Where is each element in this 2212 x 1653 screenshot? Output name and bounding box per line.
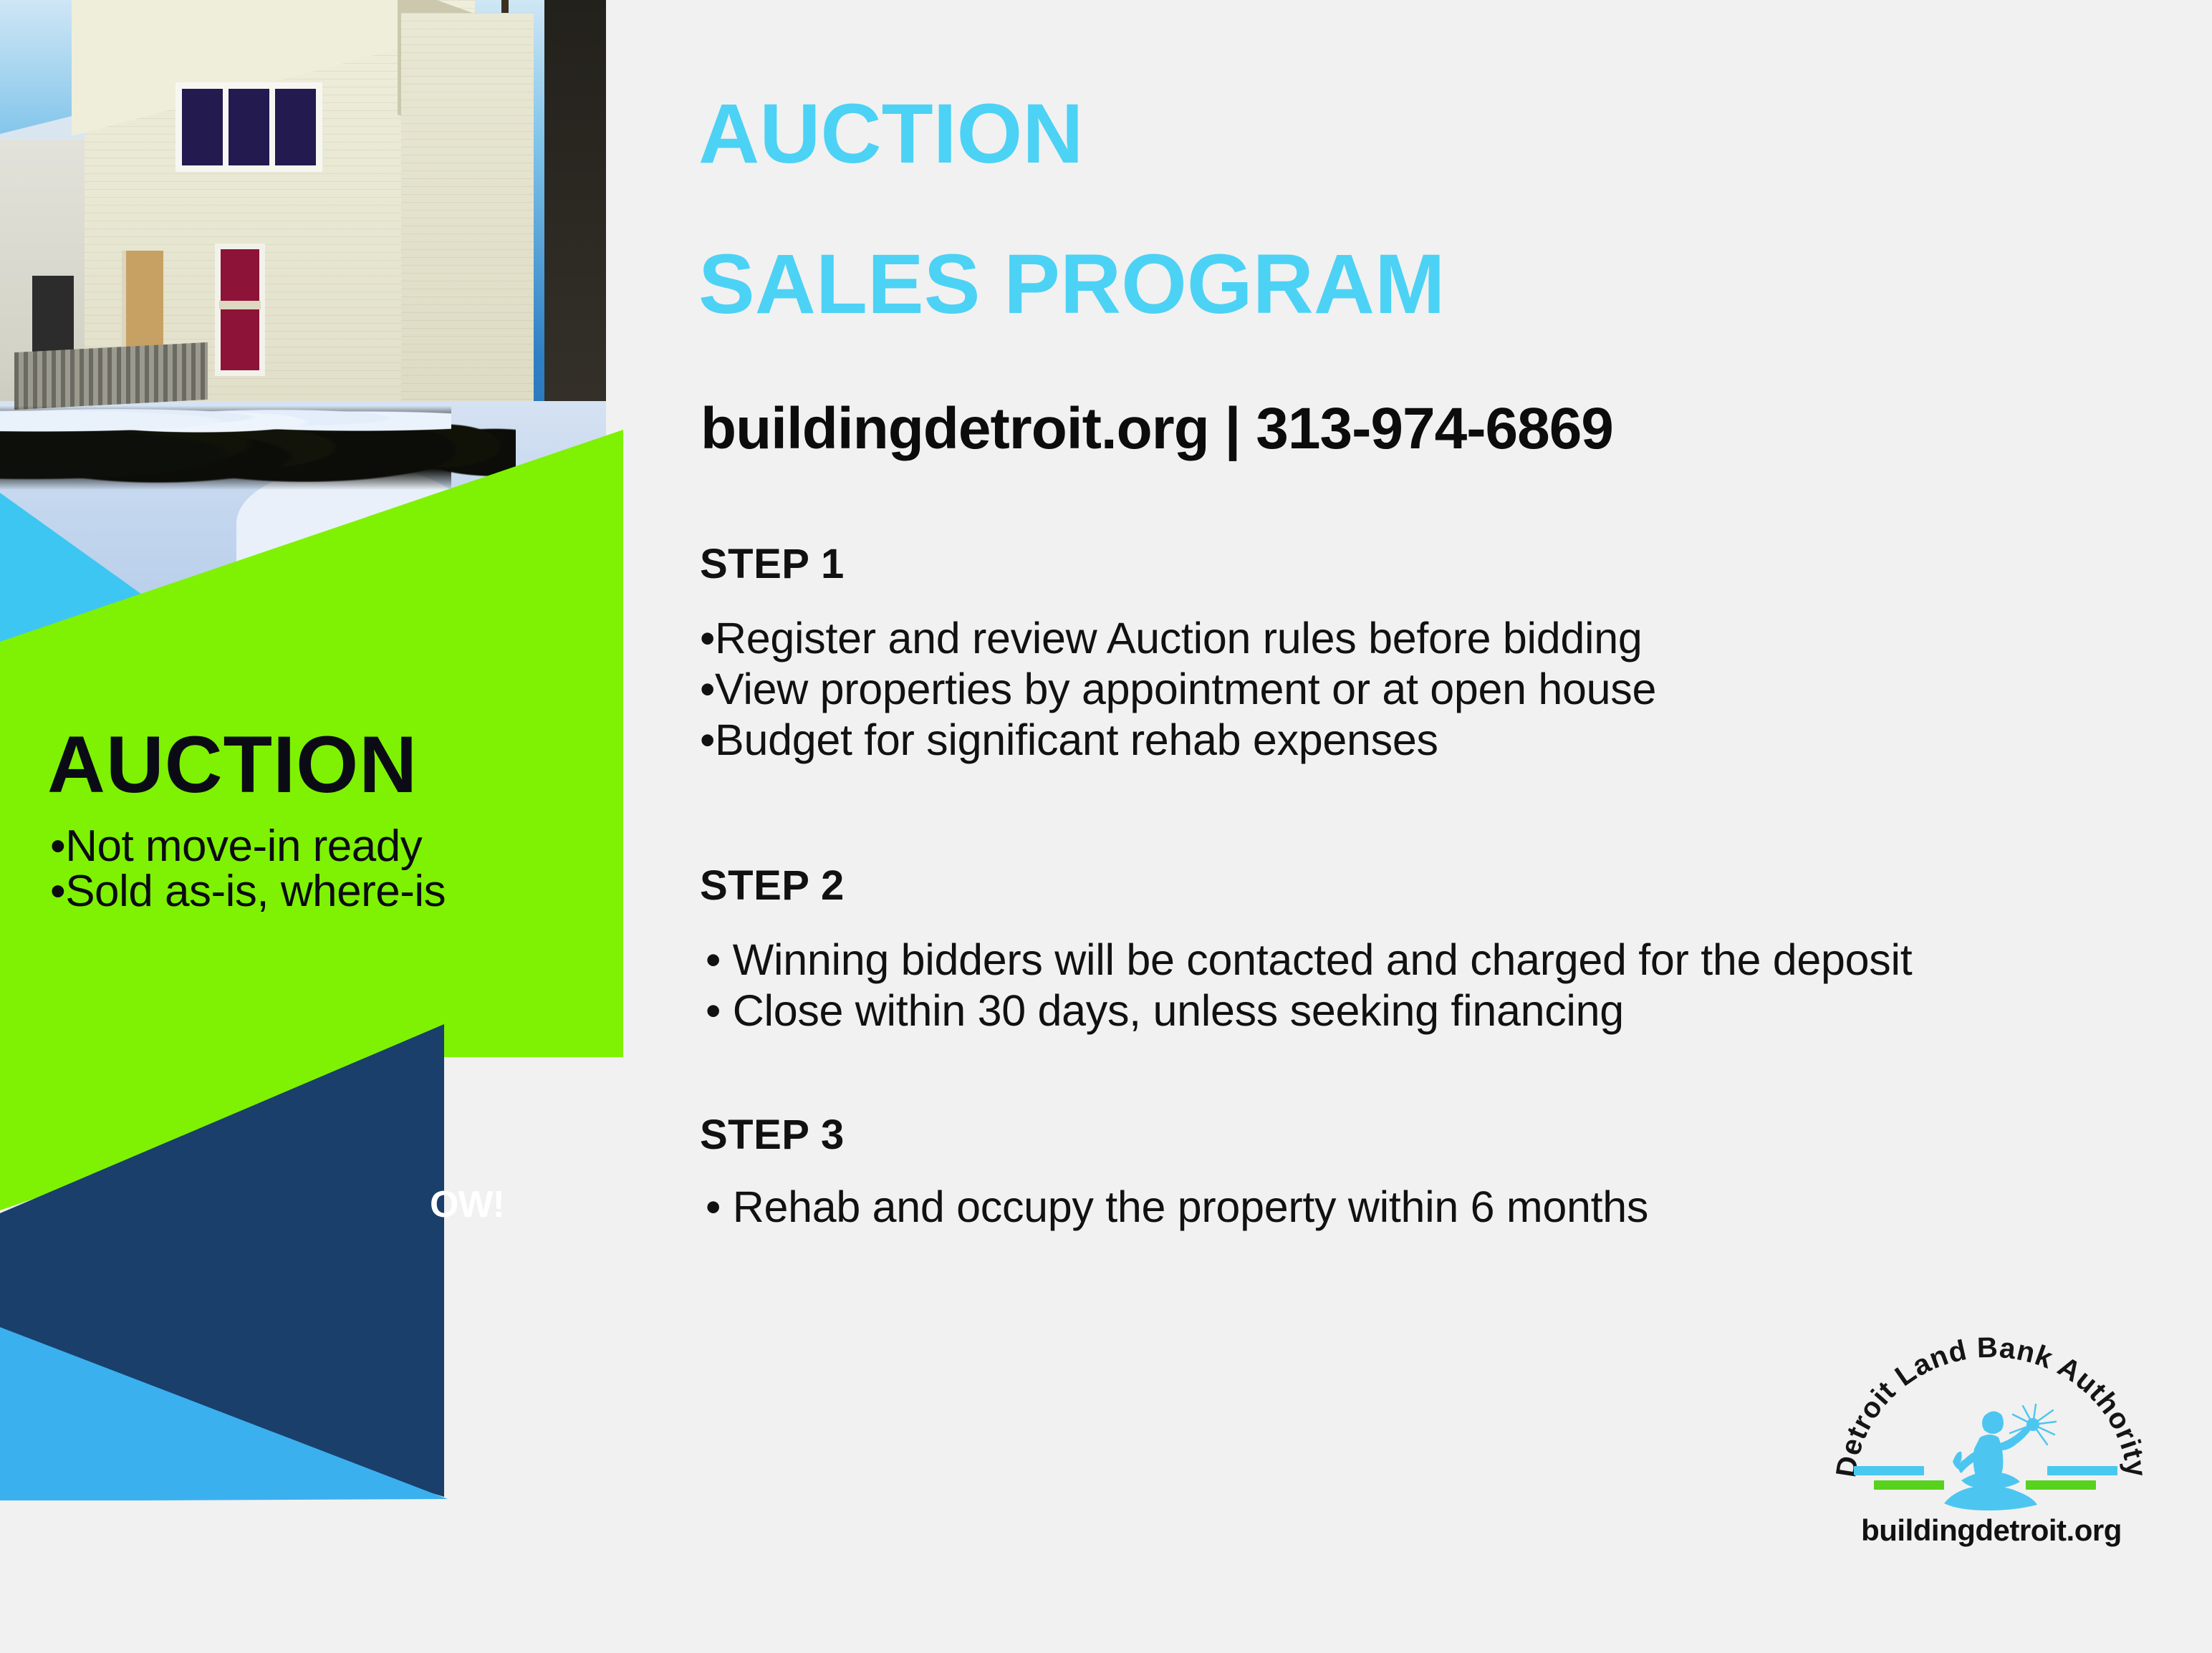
- left-panel-heading: AUCTION: [47, 725, 418, 805]
- step-1-bullet-2: •View properties by appointment or at op…: [700, 664, 1656, 715]
- step-1-bullets: •Register and review Auction rules befor…: [700, 613, 1656, 765]
- ghost-now-text: OW!: [430, 1183, 504, 1226]
- detroit-land-bank-logo: Detroit Land Bank Authority: [1834, 1321, 2149, 1572]
- page-title-line1: AUCTION: [698, 92, 1084, 176]
- photo-hedge-snow: [0, 397, 451, 437]
- step-2-bullets: • Winning bidders will be contacted and …: [706, 935, 1912, 1036]
- content-column: AUCTION SALES PROGRAM buildingdetroit.or…: [698, 0, 2203, 1653]
- step-2-title: STEP 2: [700, 862, 845, 910]
- step-3-title: STEP 3: [700, 1111, 845, 1159]
- photo-adjacent-wall: [544, 0, 606, 430]
- step-3-bullets: • Rehab and occupy the property within 6…: [706, 1182, 1648, 1233]
- logo-dash-left-cyan: [1854, 1466, 1924, 1475]
- left-bullet-2: •Sold as-is, where-is: [50, 869, 446, 914]
- left-graphics-column: OW! AUCTION •Not move-in ready •Sold as-…: [0, 0, 630, 1653]
- page-title-line2: SALES PROGRAM: [698, 242, 1445, 327]
- step-1-bullet-1: •Register and review Auction rules befor…: [700, 613, 1656, 664]
- step-3-bullet-1: • Rehab and occupy the property within 6…: [706, 1182, 1648, 1233]
- left-panel-bullets: •Not move-in ready •Sold as-is, where-is: [50, 824, 446, 914]
- logo-dashes: [1834, 1465, 2149, 1503]
- logo-dash-right-cyan: [2047, 1466, 2117, 1475]
- auction-flyer: OW! AUCTION •Not move-in ready •Sold as-…: [0, 0, 2212, 1653]
- photo-red-door: [215, 244, 265, 376]
- step-2-bullet-1: • Winning bidders will be contacted and …: [706, 935, 1912, 985]
- step-2-bullet-2: • Close within 30 days, unless seeking f…: [706, 985, 1912, 1036]
- logo-dash-left-green: [1874, 1480, 1944, 1490]
- photo-dark-door: [32, 276, 74, 358]
- logo-dash-right-green: [2026, 1480, 2096, 1490]
- photo-boarded-door: [122, 251, 163, 355]
- contact-line[interactable]: buildingdetroit.org | 313-974-6869: [701, 395, 1613, 463]
- step-1-title: STEP 1: [700, 540, 845, 588]
- step-1-bullet-3: •Budget for significant rehab expenses: [700, 715, 1656, 766]
- logo-url-text[interactable]: buildingdetroit.org: [1834, 1513, 2149, 1548]
- photo-door-sill: [219, 301, 261, 309]
- photo-upper-window: [175, 82, 322, 172]
- left-bullet-1: •Not move-in ready: [50, 824, 446, 869]
